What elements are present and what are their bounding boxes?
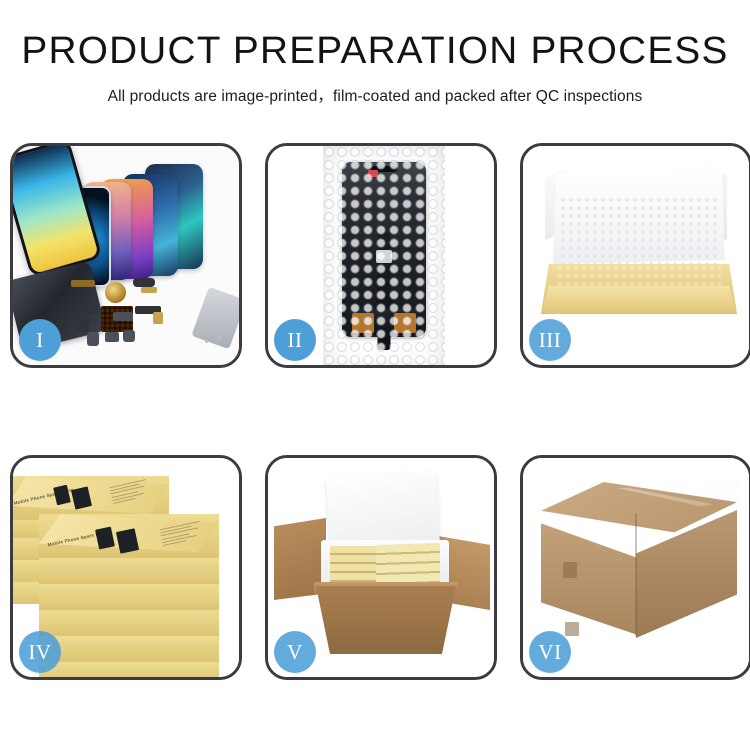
stack-box-front-top: Mobile Phone Spare Parts bbox=[39, 514, 219, 560]
carton-front-face bbox=[316, 586, 456, 654]
lcd-screen-icon bbox=[342, 162, 426, 337]
step-badge-6: VI bbox=[529, 631, 571, 673]
earpiece-icon bbox=[105, 332, 119, 342]
step-badge-3: III bbox=[529, 319, 571, 361]
process-step-4: Mobile Phone Spare Parts Mobile Phone Sp… bbox=[10, 455, 242, 680]
connector-right-icon bbox=[394, 313, 416, 333]
camera-module-icon bbox=[75, 316, 89, 332]
stack-box-front-2 bbox=[39, 558, 219, 584]
product-preparation-infographic: PRODUCT PREPARATION PROCESS All products… bbox=[0, 0, 750, 750]
step-badge-2: II bbox=[274, 319, 316, 361]
gold-connector-icon bbox=[141, 287, 157, 293]
screw-1-icon bbox=[209, 328, 213, 332]
broken-phone-icon bbox=[13, 146, 103, 278]
foam-box-lid-icon bbox=[326, 471, 440, 549]
screw-3-icon bbox=[205, 340, 208, 343]
header: PRODUCT PREPARATION PROCESS All products… bbox=[0, 0, 750, 106]
gold-tab-icon bbox=[153, 312, 163, 324]
carton-left-face bbox=[541, 516, 641, 636]
screw-2-icon bbox=[217, 336, 221, 340]
stack-box-front-5 bbox=[39, 636, 219, 662]
page-subtitle: All products are image-printed，film-coat… bbox=[0, 84, 750, 106]
battery-part-icon bbox=[87, 332, 99, 346]
carton-tab-upper bbox=[563, 562, 577, 578]
page-title: PRODUCT PREPARATION PROCESS bbox=[0, 32, 750, 70]
stack-box-front-6 bbox=[39, 662, 219, 677]
repair-tool-icon bbox=[191, 287, 239, 350]
step-badge-5: V bbox=[274, 631, 316, 673]
small-flex-icon bbox=[79, 306, 97, 314]
step-badge-4: IV bbox=[19, 631, 61, 673]
carton-right-face bbox=[636, 510, 737, 638]
connector-left-icon bbox=[352, 313, 374, 333]
process-step-3: III bbox=[520, 143, 750, 368]
chip-part-icon bbox=[71, 280, 95, 287]
vibrator-icon bbox=[123, 330, 135, 342]
red-label-icon bbox=[368, 170, 378, 177]
flex-cable-icon bbox=[133, 278, 155, 287]
process-step-1: I bbox=[10, 143, 242, 368]
process-step-6: VI bbox=[520, 455, 750, 680]
stack-box-front-4 bbox=[39, 610, 219, 636]
process-step-2: II bbox=[265, 143, 497, 368]
speaker-coil-icon bbox=[105, 282, 126, 303]
driver-ic-icon bbox=[376, 250, 392, 263]
step-badge-1: I bbox=[19, 319, 61, 361]
process-step-5: V bbox=[265, 455, 497, 680]
gold-box-front-icon bbox=[541, 286, 737, 314]
sim-tray-icon bbox=[113, 312, 133, 321]
stack-box-front-3 bbox=[39, 584, 219, 610]
carton-corner-seam bbox=[635, 514, 637, 636]
bubble-wrap-bag-icon bbox=[323, 146, 445, 365]
white-foam-sheet-icon bbox=[559, 196, 719, 268]
process-step-grid: I II bbox=[10, 143, 739, 680]
carton-tab-lower bbox=[565, 622, 579, 636]
